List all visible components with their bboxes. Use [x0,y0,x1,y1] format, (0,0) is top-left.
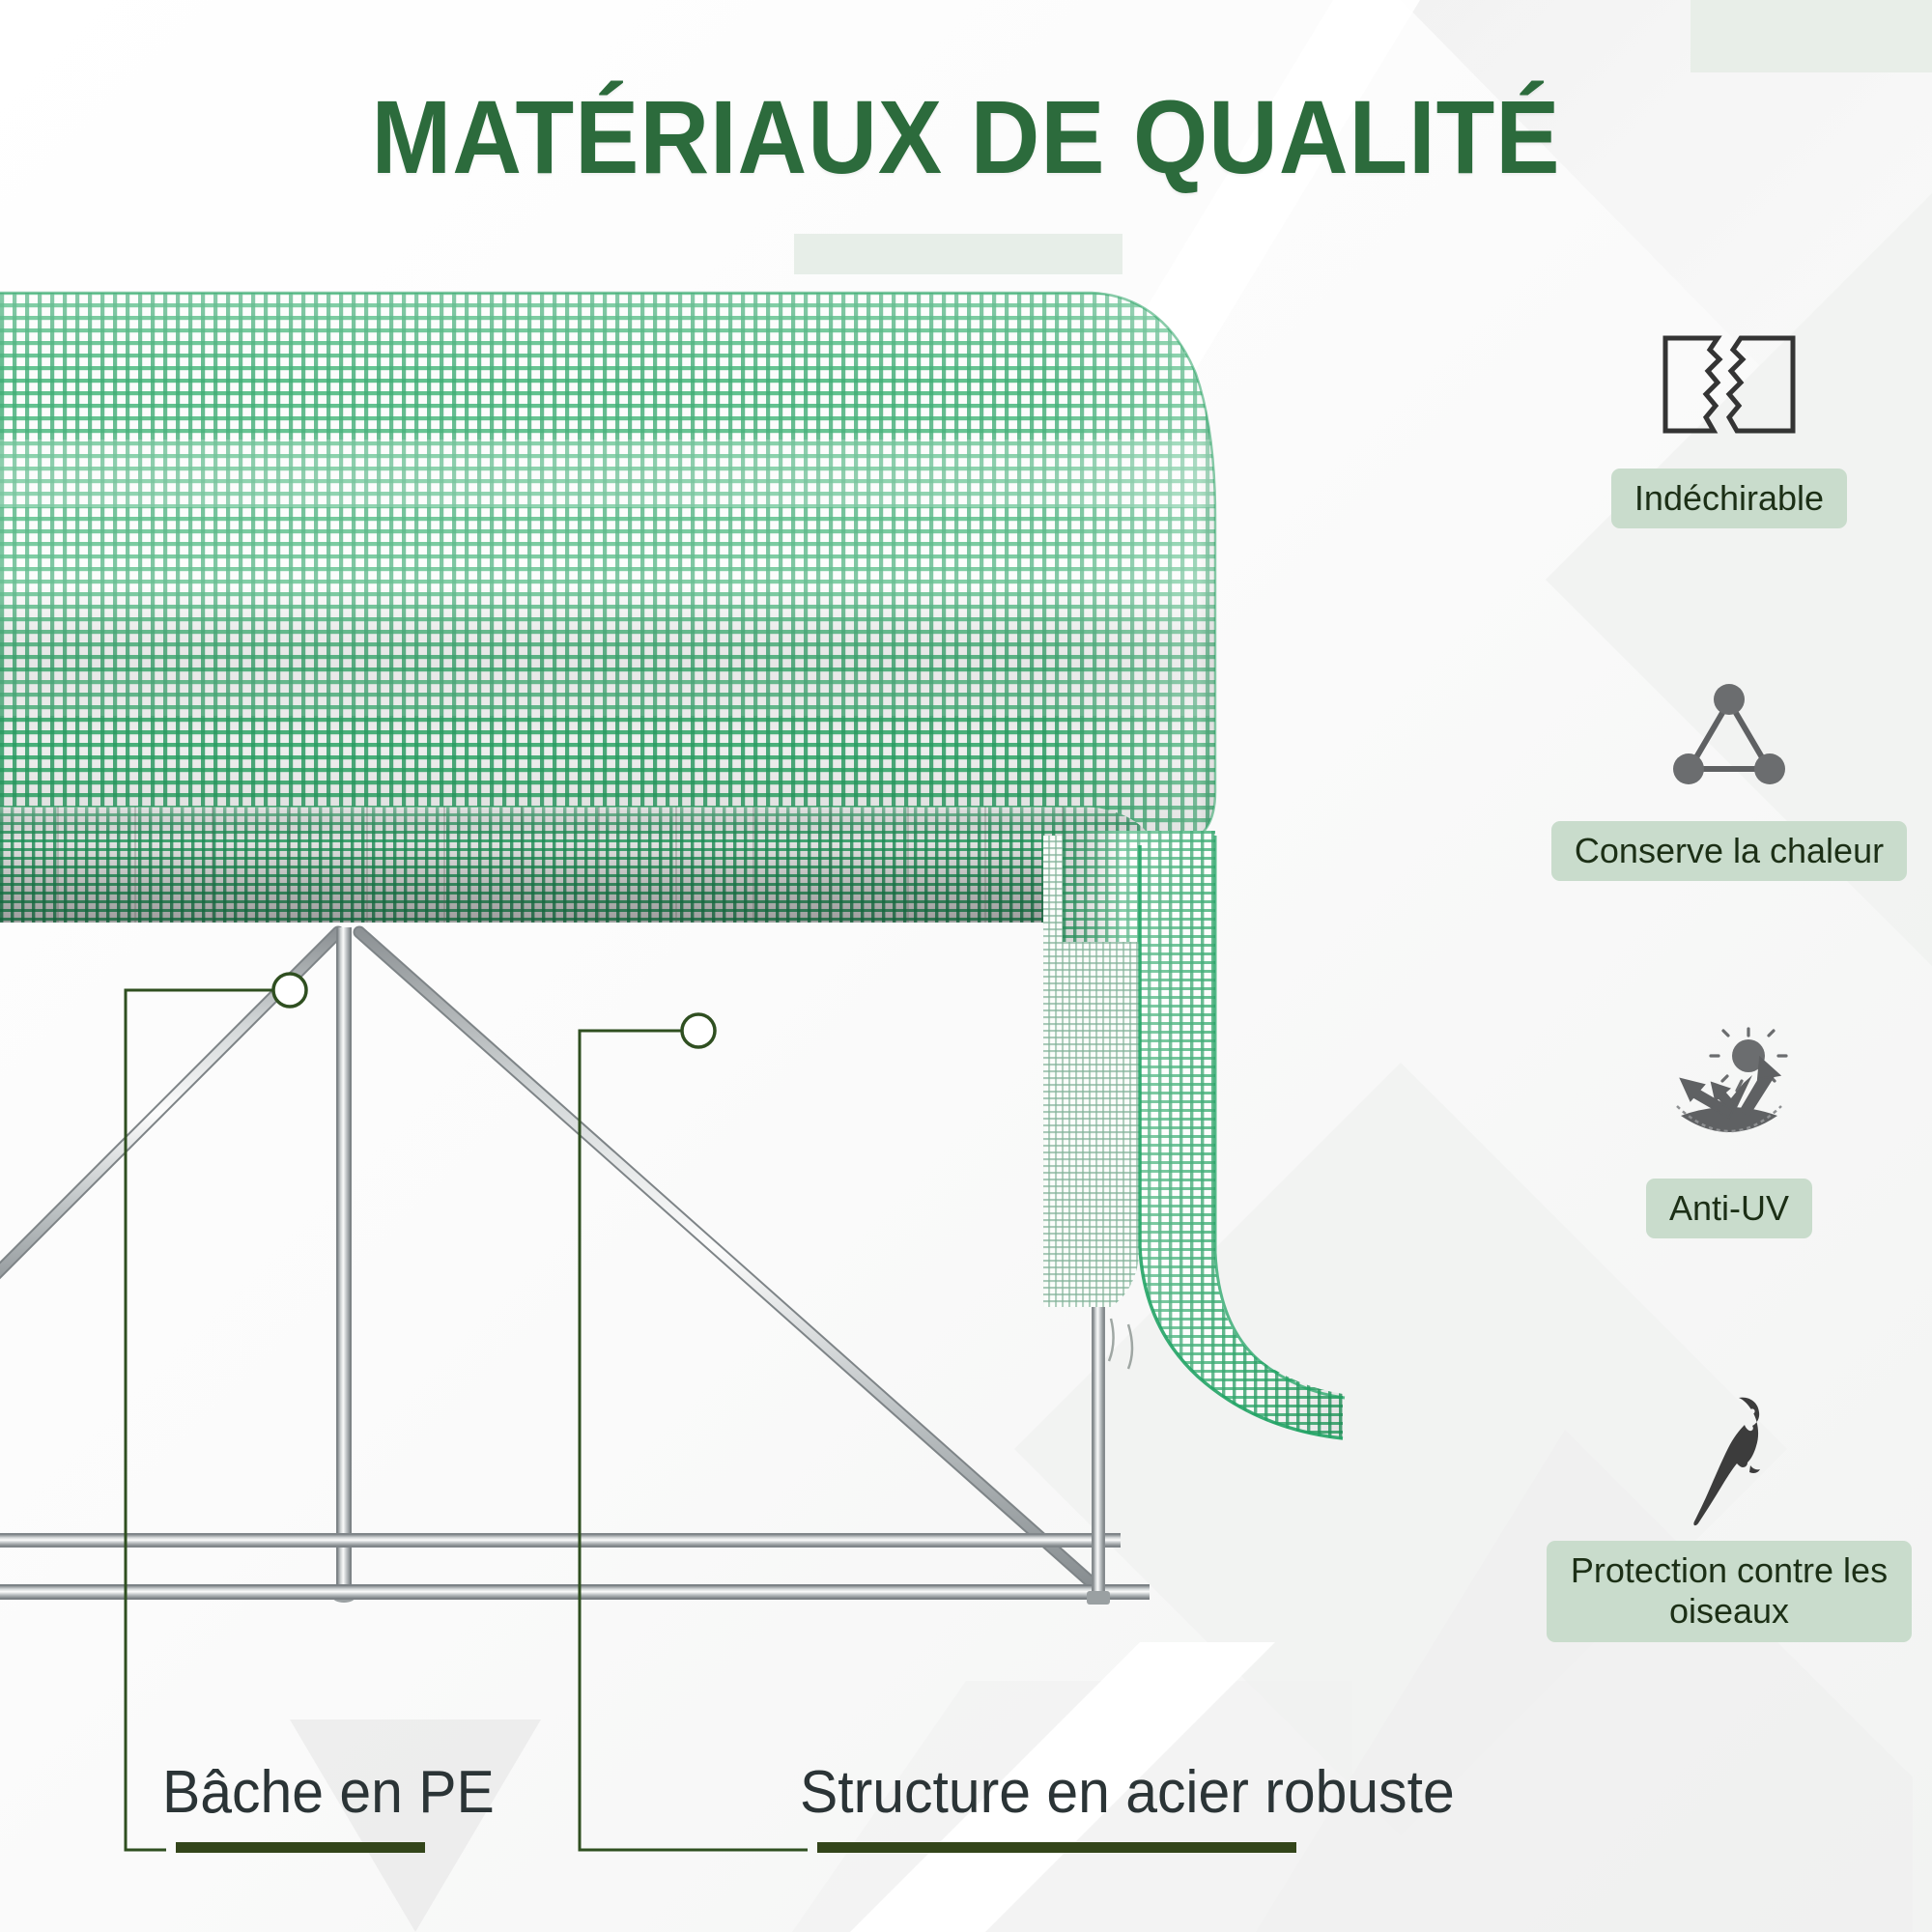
callout-label-frame: Structure en acier robuste [800,1758,1455,1827]
product-illustration [0,266,1546,1739]
feature-item-heat-retain: Conserve la chaleur [1526,652,1932,881]
post-foot [1087,1591,1110,1605]
feature-badge-heat-retain: Conserve la chaleur [1551,821,1907,881]
brace-diagonal-left [0,932,338,1309]
rail-base-upper [0,1533,1121,1548]
steel-frame [0,845,1150,1605]
underline-bar-tarp [176,1842,425,1853]
page-title-container: MATÉRIAUX DE QUALITÉ [0,85,1932,189]
sun-reflect-icon [1633,1009,1826,1179]
underline-bar-frame [817,1842,1296,1853]
feature-badge-bird-protect: Protection contre les oiseaux [1547,1541,1912,1642]
post-vertical-main [332,927,355,1603]
brace-diagonal-right [359,932,1096,1587]
page-title: MATÉRIAUX DE QUALITÉ [77,85,1855,189]
feature-item-bird-protect: Protection contre les oiseaux [1526,1372,1932,1642]
greenhouse-render [0,266,1546,1739]
feature-list: Indéchirable Conserve la chaleur [1526,290,1932,1758]
corner-accent-swatch [1690,0,1932,72]
feature-item-anti-uv: Anti-UV [1526,1009,1932,1238]
torn-sheet-icon [1633,299,1826,469]
callout-label-tarp: Bâche en PE [162,1758,495,1827]
rail-base-lower [0,1584,1150,1600]
triangle-nodes-icon [1633,652,1826,821]
greenhouse-roof-valance [0,797,1198,942]
feature-badge-tear-proof: Indéchirable [1611,469,1847,528]
bird-icon [1633,1372,1826,1541]
feature-badge-anti-uv: Anti-UV [1646,1179,1812,1238]
greenhouse-roof-tarp [0,275,1256,874]
infographic-canvas: MATÉRIAUX DE QUALITÉ [0,0,1932,1932]
drape-ties [1109,1319,1132,1369]
greenhouse-side-drape [1024,821,1362,1459]
feature-item-tear-proof: Indéchirable [1526,299,1932,528]
